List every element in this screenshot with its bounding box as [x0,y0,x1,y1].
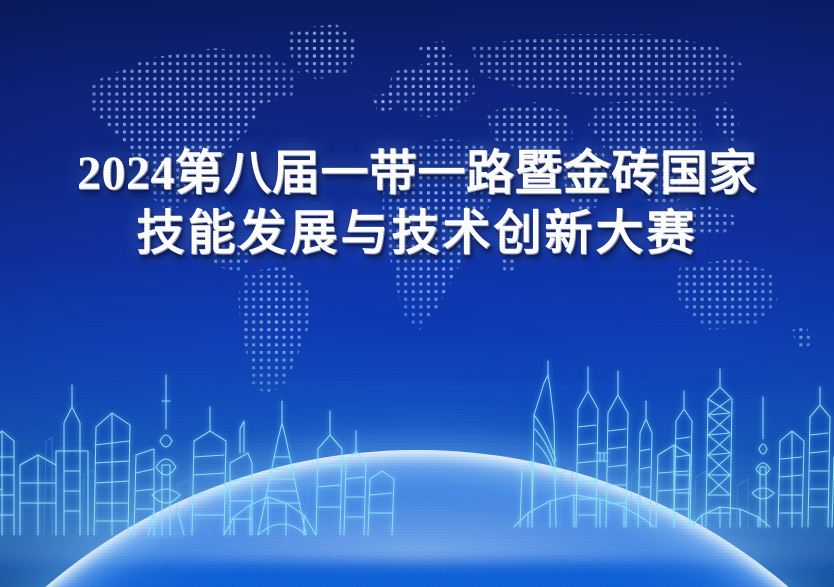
poster-title: 2024第八届一带一路暨金砖国家 技能发展与技术创新大赛 [0,150,834,258]
event-poster: 2024第八届一带一路暨金砖国家 技能发展与技术创新大赛 [0,0,834,587]
title-line-1: 2024第八届一带一路暨金砖国家 [0,150,834,198]
earth-atmosphere-haze [0,432,834,562]
title-line-2: 技能发展与技术创新大赛 [0,210,834,258]
